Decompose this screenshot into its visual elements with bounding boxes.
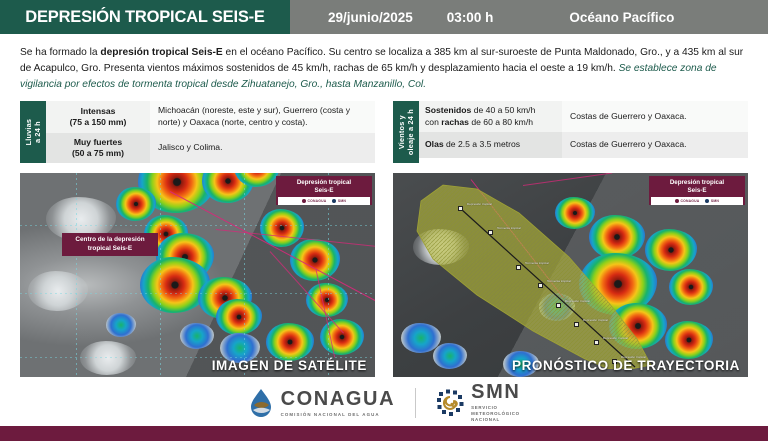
rainfall-header-line2: a 24 h	[33, 119, 42, 146]
graticule-line	[20, 225, 375, 226]
satellite-badge-line2: Seis-E	[278, 187, 370, 195]
graticule-line	[20, 293, 375, 294]
forecast-panel-caption: PRONÓSTICO DE TRAYECTORIA	[512, 358, 740, 373]
smn-subtitle: SERVICIO METEOROLÓGICO NACIONAL	[471, 405, 520, 424]
forecast-badge-logos: CONAGUA SMN	[651, 197, 743, 204]
rainfall-regions: Jalisco y Colima.	[150, 133, 375, 163]
track-point[interactable]	[594, 340, 599, 345]
track-point[interactable]	[488, 230, 493, 235]
forecast-badge-logo2: SMN	[711, 199, 719, 203]
track-point[interactable]	[574, 322, 579, 327]
wind-gust-label: rachas	[441, 117, 469, 127]
wind-wave-table: Vientos y oleaje a 24 h Sostenidos de 40…	[393, 101, 748, 163]
wave-value: de 2.5 a 3.5 metros	[444, 139, 520, 149]
satellite-badge-logos: CONAGUA SMN	[278, 197, 370, 204]
satellite-badge-logo1: CONAGUA	[307, 199, 326, 203]
map-panels: Centro de la depresión tropical Seis-E D…	[0, 173, 768, 377]
footer-color-strip	[0, 426, 768, 441]
storm-center-callout: Centro de la depresión tropical Seis-E	[62, 233, 158, 256]
wind-header-line1: Vientos y	[397, 109, 406, 155]
rainfall-table-vertical-header: Lluvias a 24 h	[20, 101, 46, 163]
hazard-tables: Lluvias a 24 h Intensas (75 a 150 mm) Mi…	[0, 101, 768, 163]
smn-spiral-icon	[705, 199, 709, 203]
rainfall-intensity-range: (75 a 150 mm)	[70, 117, 127, 128]
satellite-panel-caption: IMAGEN DE SATÉLITE	[212, 358, 367, 373]
smn-subtitle-line3: NACIONAL	[471, 417, 520, 423]
summary-text-1: Se ha formado la	[20, 47, 100, 58]
rainfall-header-line1: Lluvias	[24, 119, 33, 146]
summary-storm-name: depresión tropical Seis-E	[100, 47, 222, 58]
page-title: DEPRESIÓN TROPICAL SEIS-E	[0, 0, 290, 34]
rainfall-intensity-label: Intensas	[81, 106, 116, 117]
track-point-label: Depresión tropical	[583, 319, 608, 323]
table-row: Sostenidos de 40 a 50 km/h con rachas de…	[419, 101, 748, 131]
bulletin-time: 03:00 h	[447, 10, 494, 25]
storm-center-callout-line1: Centro de la depresión	[68, 236, 152, 245]
bulletin-basin: Océano Pacífico	[569, 10, 674, 25]
track-point[interactable]	[556, 303, 561, 308]
graticule-line	[160, 173, 161, 377]
table-row: Muy fuertes (50 a 75 mm) Jalisco y Colim…	[46, 133, 375, 163]
track-point-label: Depresión tropical	[467, 203, 492, 207]
rainfall-intensity-label: Muy fuertes	[74, 137, 122, 148]
satellite-badge-logo2: SMN	[338, 199, 346, 203]
satellite-badge-line1: Depresión tropical	[278, 179, 370, 187]
wind-sustained-value: de 40 a 50 km/h	[471, 105, 535, 115]
forecast-badge-logo1: CONAGUA	[680, 199, 699, 203]
smn-spiral-icon	[332, 199, 336, 203]
wave-height-cell: Olas de 2.5 a 3.5 metros	[419, 132, 562, 158]
rainfall-regions: Michoacán (noreste, este y sur), Guerrer…	[150, 101, 375, 132]
satellite-image-panel[interactable]: Centro de la depresión tropical Seis-E D…	[20, 173, 375, 377]
track-point[interactable]	[458, 206, 463, 211]
satellite-storm-badge: Depresión tropical Seis-E CONAGUA SMN	[276, 176, 372, 205]
wind-speed-cell: Sostenidos de 40 a 50 km/h con rachas de…	[419, 101, 562, 131]
footer-logo-row: CONAGUA COMISIÓN NACIONAL DEL AGUA	[0, 381, 768, 425]
rainfall-table: Lluvias a 24 h Intensas (75 a 150 mm) Mi…	[20, 101, 375, 163]
forecast-cone	[399, 179, 699, 369]
graticule-line	[244, 173, 245, 377]
bulletin-date: 29/junio/2025	[328, 10, 413, 25]
track-point[interactable]	[538, 283, 543, 288]
wind-gust-prefix: con	[425, 117, 441, 127]
graticule-line	[76, 173, 77, 377]
table-row: Olas de 2.5 a 3.5 metros Costas de Guerr…	[419, 132, 748, 158]
table-row: Intensas (75 a 150 mm) Michoacán (norest…	[46, 101, 375, 132]
header-meta: 29/junio/2025 03:00 h Océano Pacífico	[290, 0, 768, 34]
conagua-drop-icon	[675, 199, 679, 203]
track-point-label: Depresión tropical	[565, 300, 590, 304]
forecast-badge-line1: Depresión tropical	[651, 179, 743, 187]
forecast-storm-badge: Depresión tropical Seis-E CONAGUA SMN	[649, 176, 745, 205]
wind-regions: Costas de Guerrero y Oaxaca.	[562, 101, 748, 131]
conagua-drop-icon	[302, 199, 306, 203]
rainfall-intensity-cell: Intensas (75 a 150 mm)	[46, 101, 150, 132]
conagua-subtitle: COMISIÓN NACIONAL DEL AGUA	[281, 412, 396, 417]
forecast-track-panel[interactable]: Depresión tropical Tormenta tropical Tor…	[393, 173, 748, 377]
track-point-label: Depresión tropical	[603, 337, 628, 341]
smn-wordmark: SMN	[471, 382, 520, 402]
smn-logo: SMN SERVICIO METEOROLÓGICO NACIONAL	[436, 382, 520, 424]
smn-spiral-icon	[436, 389, 464, 417]
page-header: DEPRESIÓN TROPICAL SEIS-E 29/junio/2025 …	[0, 0, 768, 34]
page-footer: CONAGUA COMISIÓN NACIONAL DEL AGUA	[0, 381, 768, 441]
conagua-drop-icon	[248, 388, 274, 418]
rainfall-intensity-cell: Muy fuertes (50 a 75 mm)	[46, 133, 150, 163]
wave-regions: Costas de Guerrero y Oaxaca.	[562, 132, 748, 158]
track-point[interactable]	[516, 265, 521, 270]
wind-gust-value: de 60 a 80 km/h	[469, 117, 533, 127]
rainfall-intensity-range: (50 a 75 mm)	[72, 148, 124, 159]
summary-paragraph: Se ha formado la depresión tropical Seis…	[0, 34, 768, 92]
track-point-label: Tormenta tropical	[497, 227, 521, 231]
bulletin-sheet: DEPRESIÓN TROPICAL SEIS-E 29/junio/2025 …	[0, 0, 768, 441]
forecast-badge-line2: Seis-E	[651, 187, 743, 195]
footer-divider	[415, 388, 416, 418]
conagua-wordmark: CONAGUA	[281, 389, 396, 409]
wind-header-line2: oleaje a 24 h	[406, 109, 415, 155]
conagua-logo: CONAGUA COMISIÓN NACIONAL DEL AGUA	[248, 388, 396, 418]
track-point-label: Tormenta tropical	[547, 280, 571, 284]
wave-label: Olas	[425, 139, 444, 149]
track-point-label: Tormenta tropical	[525, 262, 549, 266]
storm-center-callout-line2: tropical Seis-E	[68, 245, 152, 254]
wind-sustained-label: Sostenidos	[425, 105, 471, 115]
wind-table-vertical-header: Vientos y oleaje a 24 h	[393, 101, 419, 163]
